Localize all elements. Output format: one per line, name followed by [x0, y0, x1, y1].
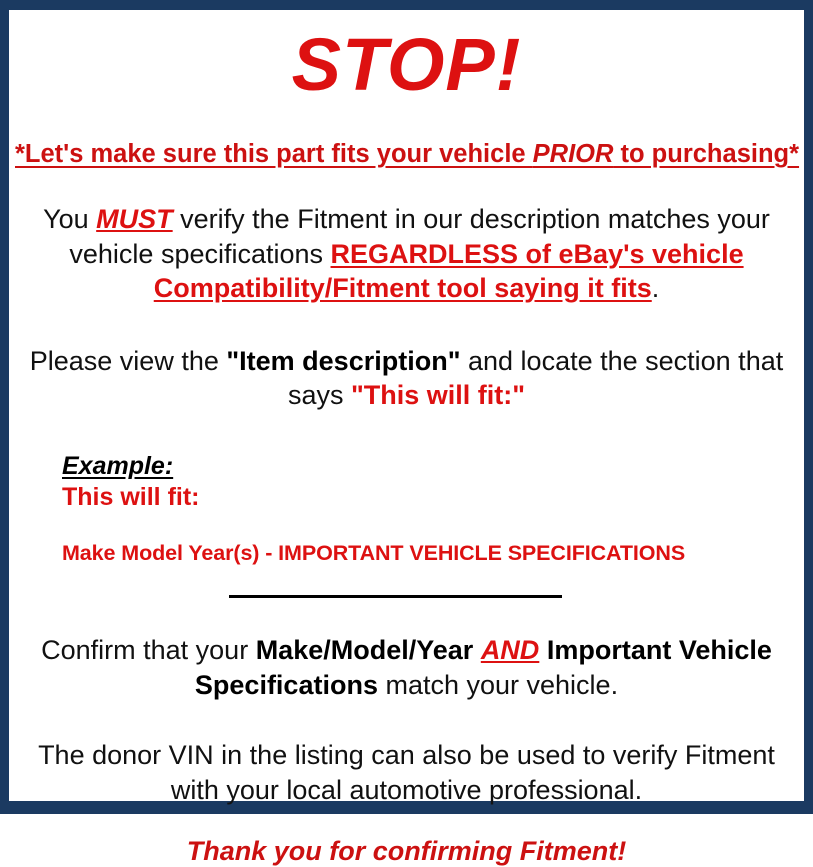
emphasis-make-model-year: Make/Model/Year	[256, 635, 474, 665]
subtitle-banner: *Let's make sure this part fits your veh…	[15, 140, 798, 168]
emphasis-item-description: "Item description"	[226, 346, 460, 376]
example-label: Example:	[62, 453, 798, 481]
emphasis-this-will-fit: "This will fit:"	[351, 380, 525, 410]
thanks-message: Thank you for confirming Fitment!	[15, 835, 798, 867]
confirm-space-2	[539, 635, 547, 665]
divider-wrapper	[15, 589, 798, 605]
example-spec-line: Make Model Year(s) - IMPORTANT VEHICLE S…	[62, 541, 798, 567]
confirm-text-after: match your vehicle.	[378, 670, 618, 700]
emphasis-must: MUST	[96, 204, 173, 234]
example-block: Example: This will fit: Make Model Year(…	[15, 453, 798, 567]
paragraph-must-verify: You MUST verify the Fitment in our descr…	[15, 202, 798, 306]
fitment-notice-frame: STOP! *Let's make sure this part fits yo…	[0, 0, 813, 814]
must-text-before: You	[43, 204, 96, 234]
desc-text-before: Please view the	[30, 346, 227, 376]
subtitle-emphasis-prior: PRIOR	[533, 140, 614, 168]
emphasis-and: AND	[481, 635, 540, 665]
must-text-after: .	[652, 273, 660, 303]
confirm-text-before: Confirm that your	[41, 635, 256, 665]
example-fit-heading: This will fit:	[62, 482, 798, 513]
stop-heading: STOP!	[15, 28, 798, 102]
confirm-space-1	[473, 635, 481, 665]
paragraph-item-description: Please view the "Item description" and l…	[15, 344, 798, 413]
paragraph-confirm: Confirm that your Make/Model/Year AND Im…	[15, 633, 798, 702]
horizontal-divider	[229, 595, 562, 598]
paragraph-donor-vin: The donor VIN in the listing can also be…	[15, 738, 798, 807]
subtitle-text-after: to purchasing*	[613, 140, 799, 168]
fitment-notice-body: STOP! *Let's make sure this part fits yo…	[9, 28, 804, 819]
subtitle-text-before: *Let's make sure this part fits your veh…	[15, 140, 533, 168]
